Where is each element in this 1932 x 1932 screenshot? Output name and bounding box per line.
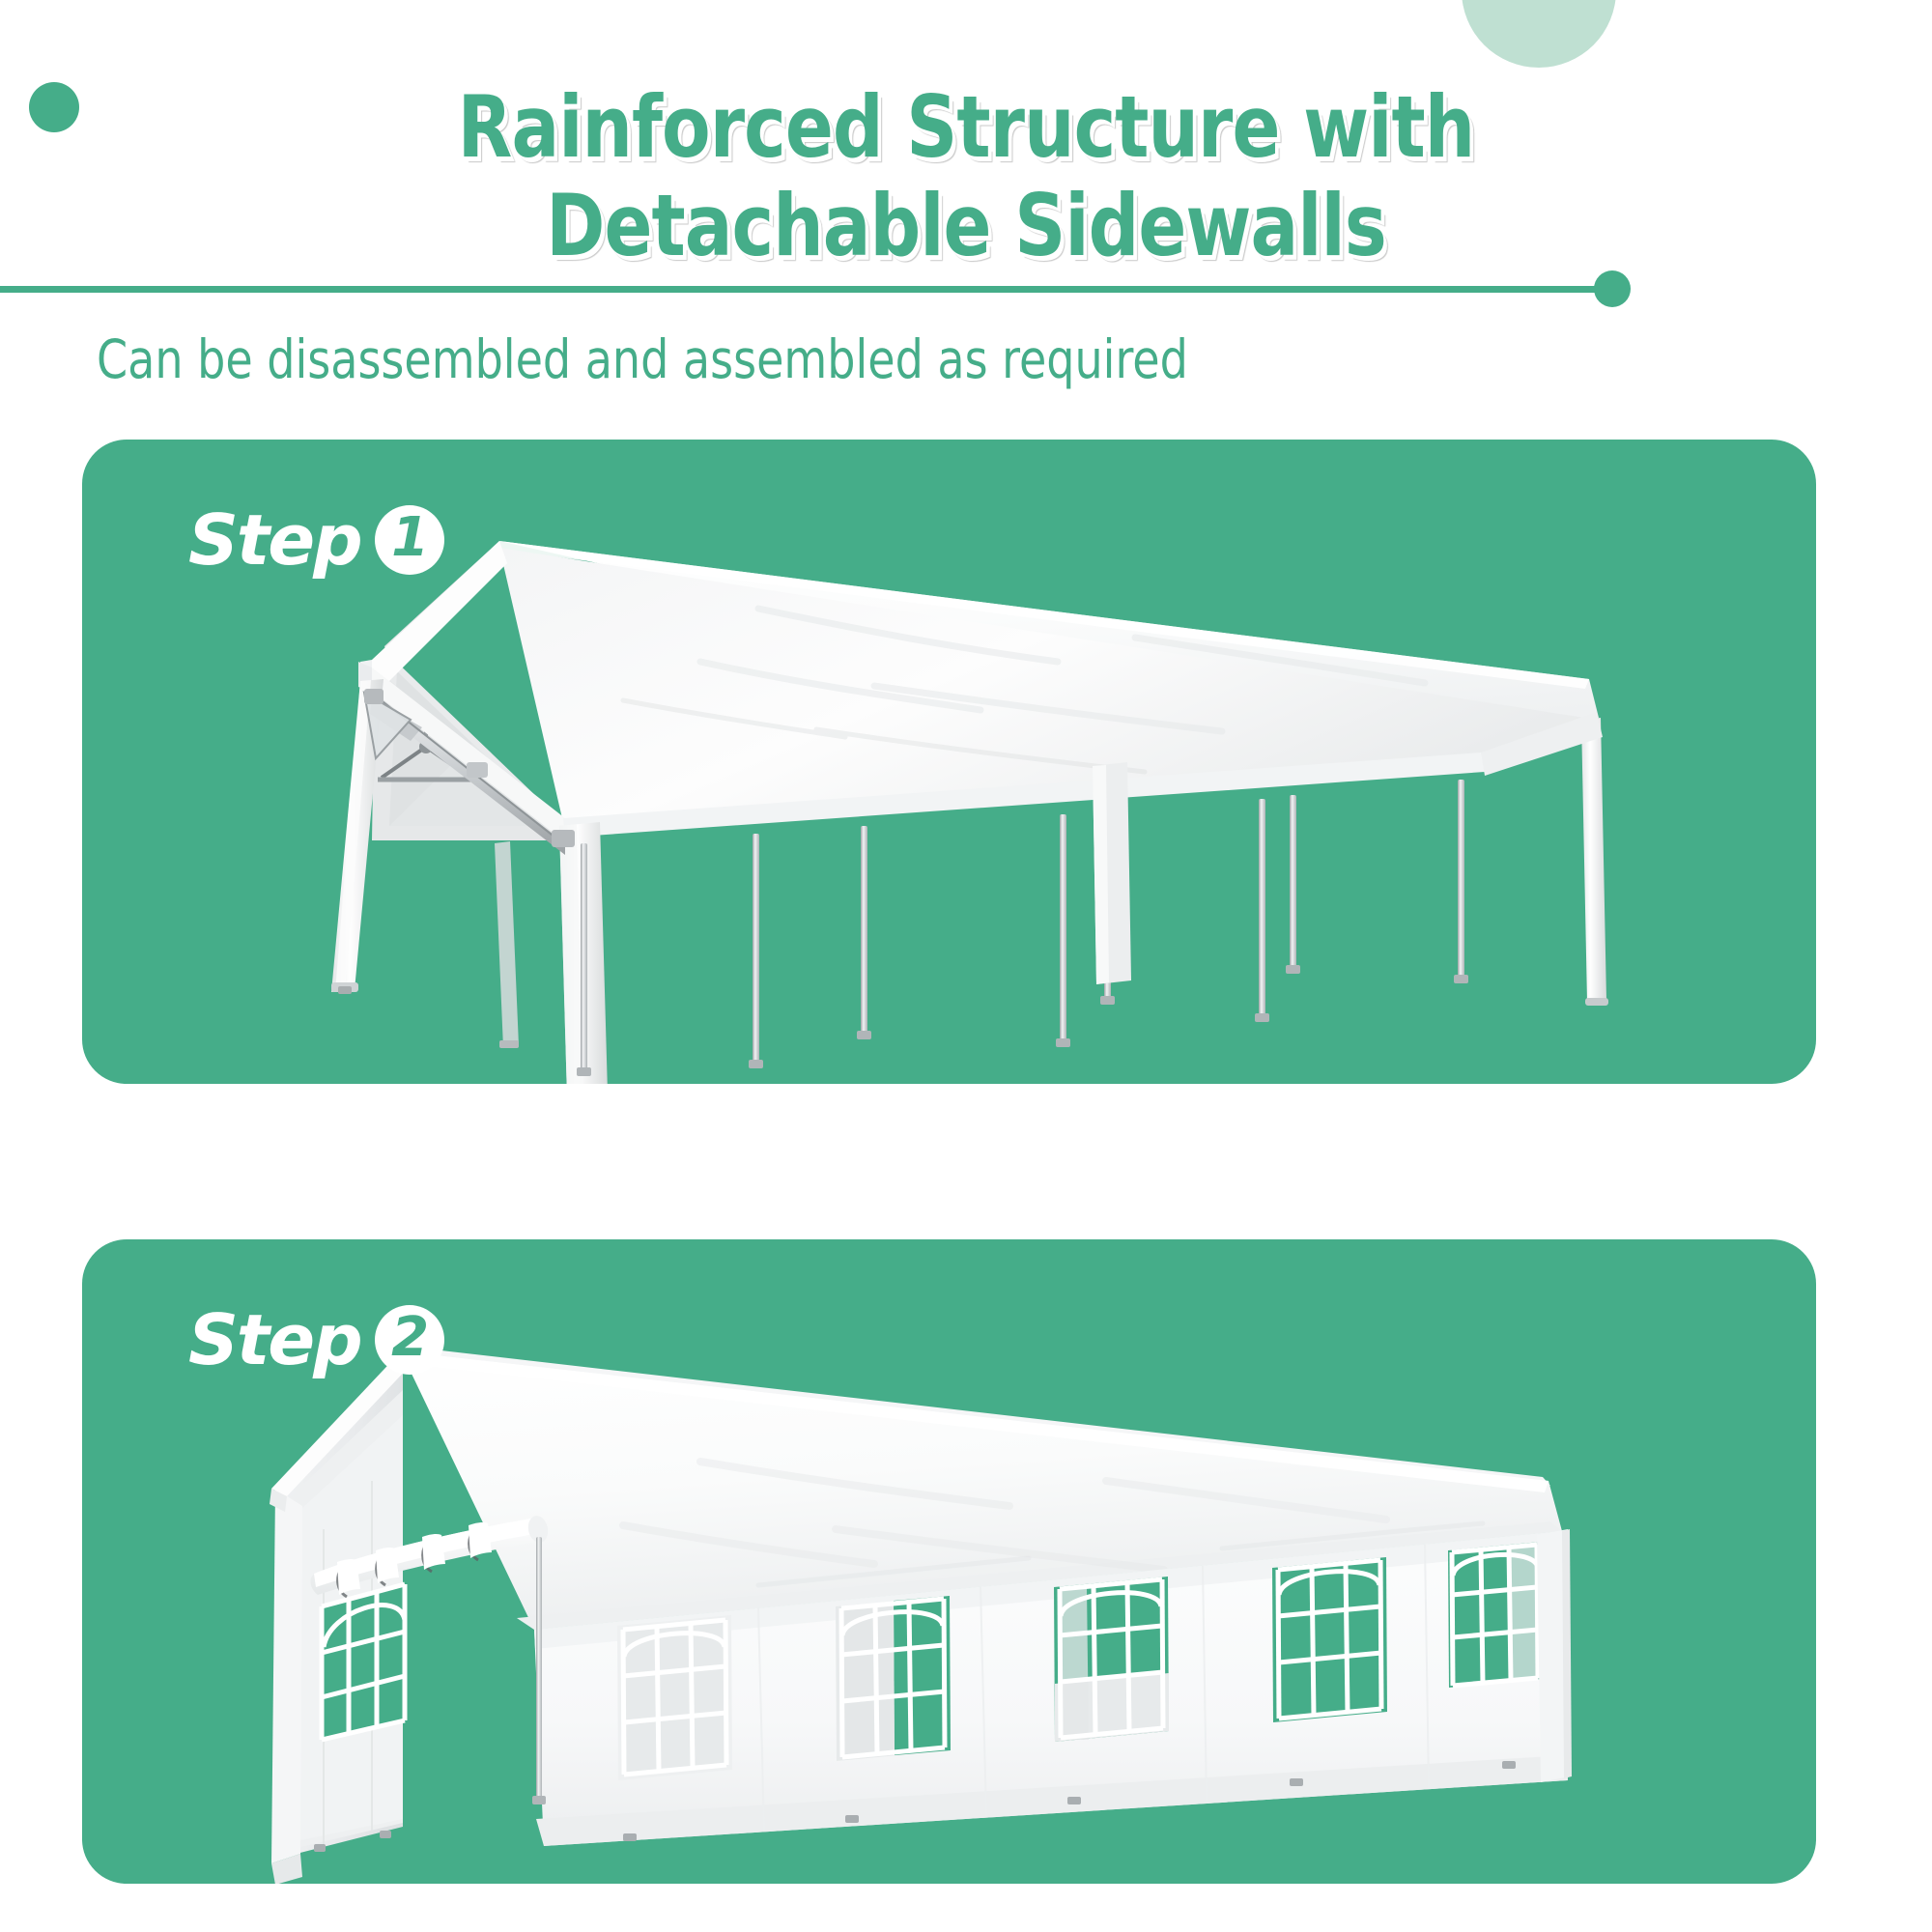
step-2-label: Step 2 — [188, 1299, 444, 1380]
step-1-word: Step — [188, 499, 361, 581]
sidewall-window-4 — [1272, 1557, 1387, 1722]
step-2-word: Step — [188, 1299, 361, 1380]
step-2-number-badge: 2 — [375, 1305, 444, 1375]
tent-pole-feet — [577, 965, 1468, 1076]
endwall-window — [322, 1584, 405, 1740]
tent-leg-mid — [1093, 762, 1131, 984]
page-title-line-1: Rainforced Structure with — [68, 77, 1864, 177]
tent-leg-back-left — [495, 841, 519, 1048]
sidewall-window-2 — [836, 1596, 951, 1761]
page-title-line-2: Detachable Sidewalls — [68, 176, 1864, 275]
step-2-panel: Step 2 — [82, 1239, 1816, 1884]
page-subtitle: Can be disassembled and assembled as req… — [97, 328, 1188, 390]
step-1-number-badge: 1 — [375, 505, 444, 575]
sidewall-window-3 — [1054, 1577, 1169, 1742]
header: Rainforced Structure with Detachable Sid… — [0, 0, 1932, 290]
sidewall-window-1 — [617, 1615, 732, 1780]
step-1-panel: Step 1 — [82, 440, 1816, 1084]
sidewall-window-5 — [1448, 1542, 1542, 1688]
tent-leg-far-right — [1581, 718, 1608, 1006]
step-1-label: Step 1 — [188, 499, 444, 581]
